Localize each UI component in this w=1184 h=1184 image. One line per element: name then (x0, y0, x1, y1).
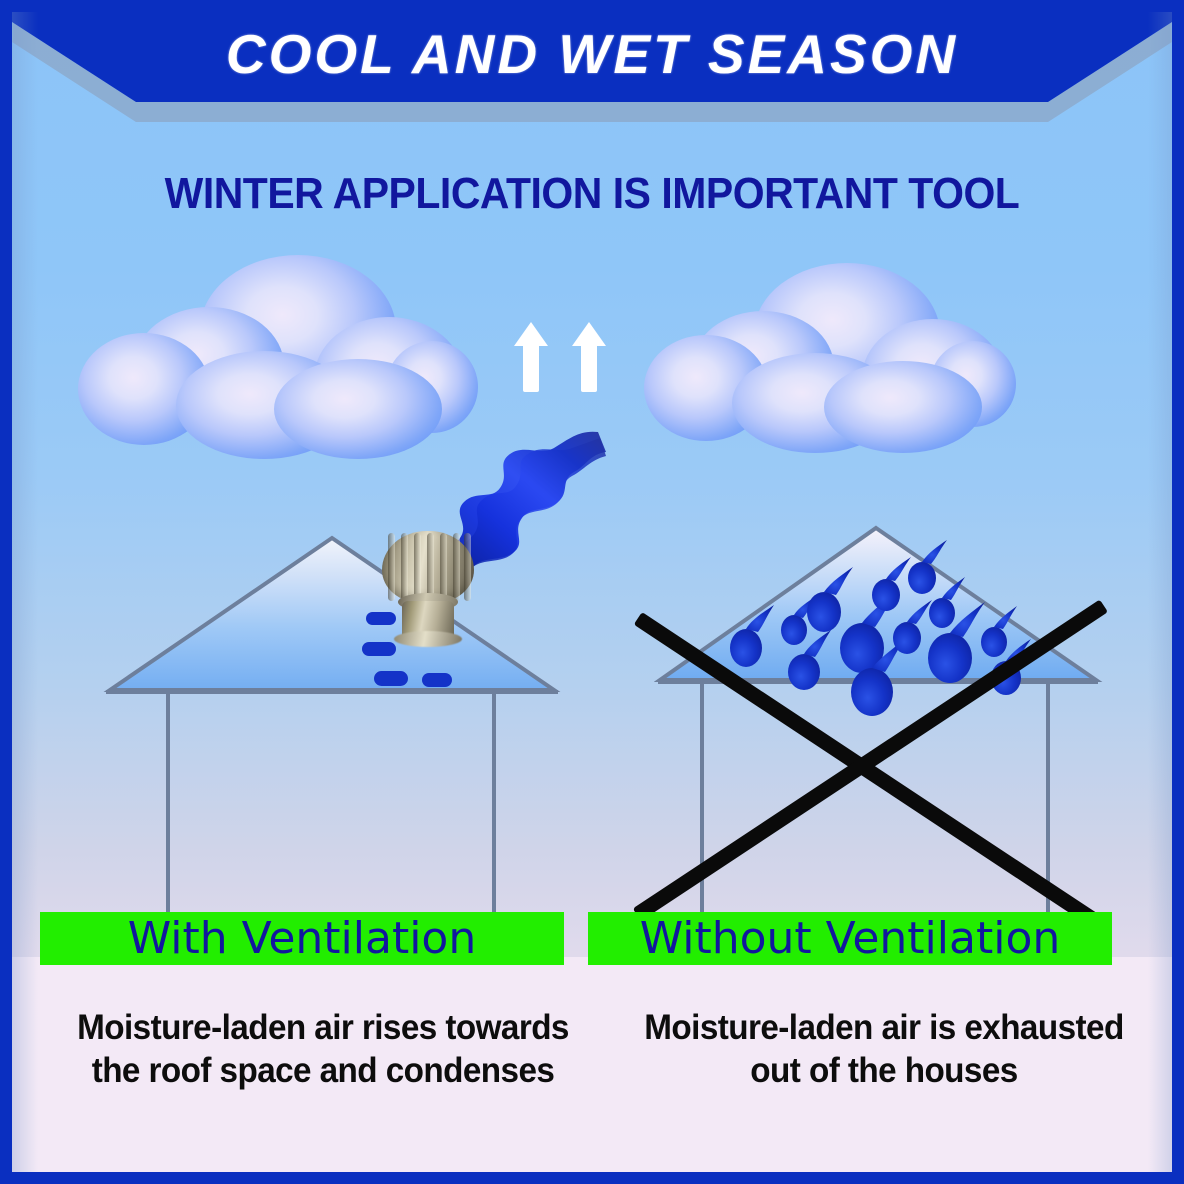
label-with-ventilation-text: With Ventilation (128, 913, 476, 964)
turbine-flashing (394, 631, 462, 647)
arrow-up-icon (511, 322, 551, 392)
title-banner: COOL AND WET SEASON (12, 12, 1172, 132)
roof-left (102, 532, 562, 697)
cloud-icon (78, 255, 478, 460)
caption-right: Moisture-laden air is exhausted out of t… (618, 1007, 1150, 1092)
infographic-inner-frame: With Ventilation Without Ventilation Moi… (12, 12, 1172, 1172)
label-without-ventilation[interactable]: Without Ventilation (588, 912, 1112, 965)
label-with-ventilation[interactable]: With Ventilation (40, 912, 564, 965)
airflow-mark (374, 671, 408, 686)
caption-right-line2: out of the houses (618, 1050, 1150, 1093)
airflow-mark (362, 642, 396, 656)
caption-left-line2: the roof space and condenses (52, 1050, 594, 1093)
arrow-up-icon (569, 322, 609, 392)
page-subtitle: WINTER APPLICATION IS IMPORTANT TOOL (53, 164, 1132, 224)
page-title: COOL AND WET SEASON (12, 12, 1172, 102)
airflow-mark (422, 673, 452, 687)
caption-left-line1: Moisture-laden air rises towards (52, 1007, 594, 1050)
infographic-canvas: With Ventilation Without Ventilation Moi… (0, 0, 1184, 1184)
cloud-icon (644, 263, 1016, 453)
turbine-vent-icon (382, 531, 474, 643)
caption-left: Moisture-laden air rises towards the roo… (52, 1007, 594, 1092)
caption-right-line1: Moisture-laden air is exhausted (618, 1007, 1150, 1050)
label-without-ventilation-text: Without Ventilation (640, 913, 1061, 964)
house-without-ventilation (654, 520, 1104, 932)
house-with-ventilation (102, 532, 562, 932)
